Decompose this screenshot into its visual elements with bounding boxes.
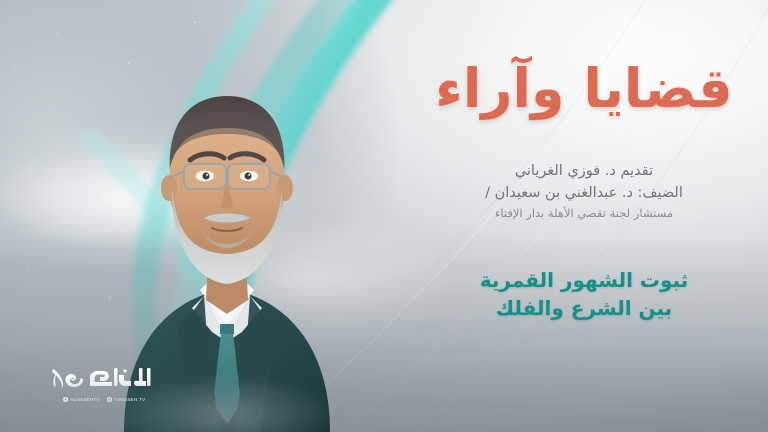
channel-logo-mark xyxy=(44,364,164,394)
globe-icon xyxy=(107,397,112,402)
channel-handle-site: TANASEH.TV xyxy=(107,397,146,402)
episode-topic: ثبوت الشهور القمرية بين الشرع والفلك xyxy=(400,266,768,323)
channel-handle-facebook-text: AlnasehTV xyxy=(70,397,100,402)
facebook-icon xyxy=(63,397,68,402)
channel-handle-facebook: AlnasehTV xyxy=(63,397,100,402)
episode-topic-line-1: ثبوت الشهور القمرية xyxy=(400,266,768,294)
guest-credit: الضيف: د. عبدالغني بن سعيدان / xyxy=(400,182,768,204)
title-text-column: قضايا وآراء تقديم د. فوزي الغرياني الضيف… xyxy=(400,0,768,432)
broadcast-title-card: قضايا وآراء تقديم د. فوزي الغرياني الضيف… xyxy=(0,0,768,432)
channel-logo: AlnasehTV TANASEH.TV xyxy=(44,364,164,410)
channel-handles: AlnasehTV TANASEH.TV xyxy=(44,397,164,402)
presenter-credit: تقديم د. فوزي الغرياني xyxy=(400,160,768,182)
episode-topic-line-2: بين الشرع والفلك xyxy=(400,294,768,322)
guest-role: مستشار لجنة تقصي الأهلة بدار الإفتاء xyxy=(400,204,768,222)
channel-handle-site-text: TANASEH.TV xyxy=(114,397,145,402)
credits-block: تقديم د. فوزي الغرياني الضيف: د. عبدالغن… xyxy=(400,160,768,223)
program-title: قضايا وآراء xyxy=(400,62,768,116)
